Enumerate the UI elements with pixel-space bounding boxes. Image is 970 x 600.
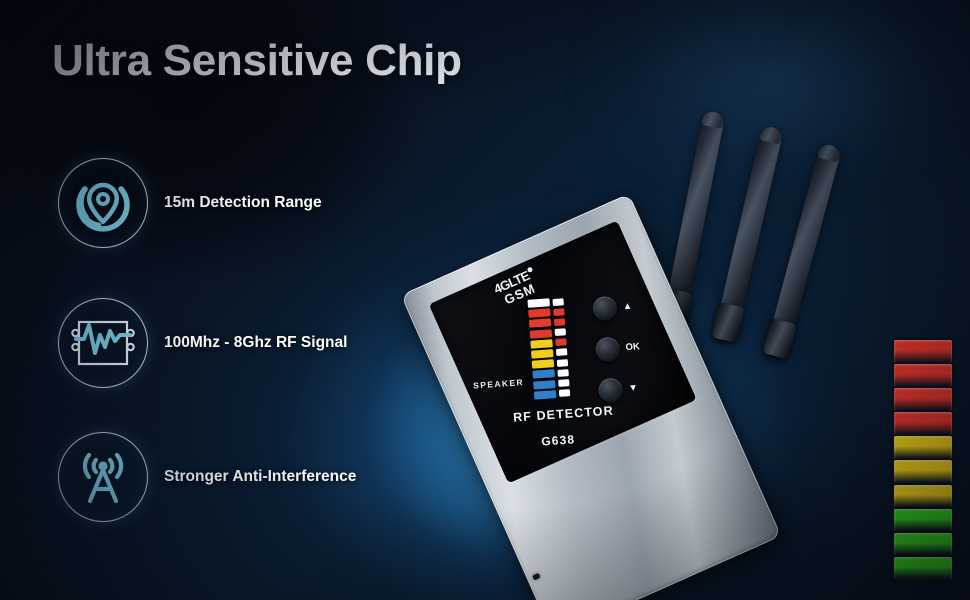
- background-vignette: [0, 0, 970, 600]
- promo-banner: Ultra Sensitive Chip 15m Detection Range: [0, 0, 970, 600]
